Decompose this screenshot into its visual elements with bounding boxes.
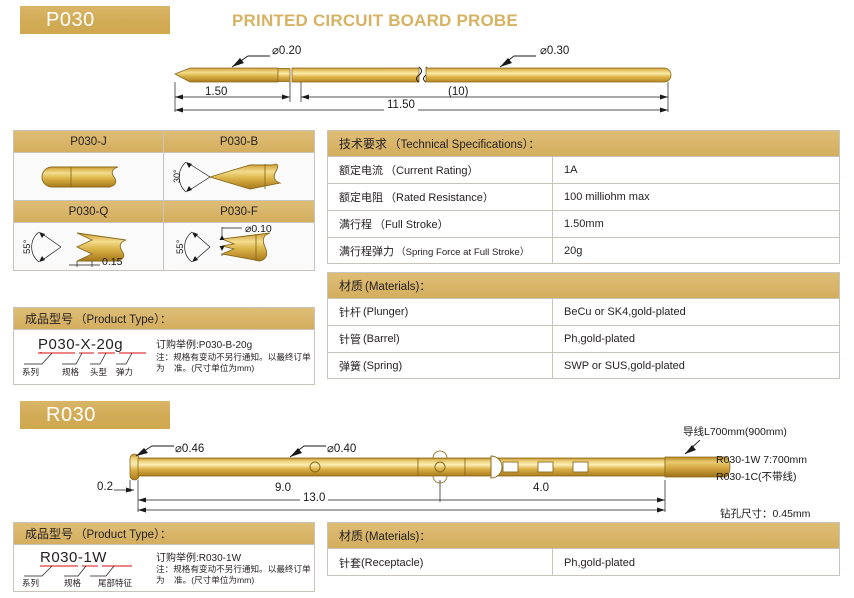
r030-materials-table: 材质 (Materials)： 针套 (Receptacle) Ph,gold-…	[327, 522, 840, 576]
p030-legend-1: 规格	[62, 366, 79, 378]
r030-len-tail-label: 4.0	[530, 482, 552, 494]
r030-note-line2: 准。(尺寸单位为mm)	[174, 575, 254, 586]
p030-product-type-box: 成品型号 （Product Type）： P030-X-20g 系列 规格 头型…	[13, 307, 315, 385]
p030-probe-drawing	[170, 44, 690, 114]
p030-legend-3: 弹力	[116, 366, 133, 378]
tip-type-cell-p030-q: 55° 0.15	[14, 223, 164, 270]
spec-label-cell: 满行程弹力 （Spring Force at Full Stroke）	[328, 238, 553, 264]
product-type-header-cn: 成品型号	[25, 310, 73, 327]
p030-legend-0: 系列	[22, 366, 39, 378]
p030-tip-type-grid: P030-J P030-B 30°	[13, 130, 315, 271]
material-value-cell: Ph,gold-plated	[553, 326, 839, 352]
p030-product-type-header: 成品型号 （Product Type）：	[14, 308, 314, 330]
p030-materials-table: 材质 (Materials)： 针杆 (Plunger) BeCu or SK4…	[327, 272, 840, 379]
material-value-cell: BeCu or SK4,gold-plated	[553, 299, 839, 325]
material-label-cell: 针杆 (Plunger)	[328, 299, 553, 325]
r030-len-total-label: 13.0	[300, 492, 328, 504]
r030-order-example: 订购举例:R030-1W	[156, 549, 241, 564]
material-label-en: (Barrel)	[363, 333, 400, 345]
p030-product-code: P030-X-20g	[38, 336, 123, 353]
specs-header-en: （Technical Specifications）：	[389, 136, 540, 152]
table-row: 满行程弹力 （Spring Force at Full Stroke） 20g	[328, 238, 839, 264]
p030-note-line2: 准。(尺寸单位为mm)	[174, 363, 254, 374]
material-label-cn: 针杆	[339, 304, 361, 320]
spec-value-cell: 1A	[553, 157, 839, 183]
r030-dia-head-label: ⌀0.46	[175, 441, 204, 455]
table-row: 弹簧 (Spring) SWP or SUS,gold-plated	[328, 353, 839, 379]
material-label-cn: 针管	[339, 331, 361, 347]
material-label-cell: 针套 (Receptacle)	[328, 549, 553, 576]
spec-label-en: （Current Rating）	[385, 162, 479, 178]
material-label-cn: 针套	[339, 555, 361, 571]
spec-label-cell: 满行程 （Full Stroke）	[328, 211, 553, 237]
p030-len-barrel-label: (10)	[448, 86, 468, 98]
tip-shape-cone-icon: 30°	[164, 153, 314, 201]
r030-legend-0: 系列	[22, 577, 39, 589]
tip-type-label: P030-J	[70, 136, 106, 148]
specs-header: 技术要求 （Technical Specifications）：	[328, 131, 839, 157]
r030-variant-1c: R030-1C(不带线)	[716, 469, 797, 484]
tip-shape-crown-flat-icon: 55°	[164, 223, 314, 270]
spec-label-cell: 额定电流 （Current Rating）	[328, 157, 553, 183]
r030-legend-1: 规格	[64, 577, 81, 589]
tip-type-cell-p030-f: 55° ⌀0.10	[164, 223, 314, 270]
tip-type-header-p030-j: P030-J	[14, 131, 164, 153]
tip-shape-crown-3point-icon: 55°	[14, 223, 164, 270]
p030-legend-2: 头型	[90, 366, 107, 378]
table-row: 针管 (Barrel) Ph,gold-plated	[328, 326, 839, 353]
tip-dim-label-f: ⌀0.10	[245, 223, 272, 235]
material-label-en: (Receptacle)	[361, 557, 423, 569]
materials-header: 材质 (Materials)：	[328, 273, 839, 299]
materials-header-cn: 材质	[339, 277, 363, 294]
p030-len-tip-label: 1.50	[205, 86, 227, 98]
tip-type-header-p030-b: P030-B	[164, 131, 314, 153]
tip-angle-label-b: 30°	[172, 169, 182, 183]
spec-label-cn: 额定电阻	[339, 189, 383, 205]
materials-header-cn: 材质	[339, 527, 363, 544]
materials-header-en: (Materials)：	[365, 278, 431, 294]
tip-dim-label-q: 0.15	[102, 256, 122, 268]
spec-label-cell: 额定电阻 （Rated Resistance）	[328, 184, 553, 210]
r030-legend-2: 尾部特征	[98, 577, 132, 589]
tip-type-label: P030-B	[220, 136, 258, 148]
spec-label-en: （Spring Force at Full Stroke）	[396, 244, 529, 258]
r030-len-mid-label: 9.0	[272, 482, 294, 494]
spec-label-en: （Full Stroke）	[374, 216, 449, 232]
tip-angle-label-q: 55°	[22, 239, 33, 254]
table-row: 额定电阻 （Rated Resistance） 100 milliohm max	[328, 184, 839, 211]
r030-variant-1w: R030-1W 7:700mm	[716, 454, 807, 466]
r030-materials-header: 材质 (Materials)：	[328, 523, 839, 549]
tip-type-cell-p030-b: 30°	[164, 153, 314, 201]
material-label-cell: 弹簧 (Spring)	[328, 353, 553, 379]
r030-len-head-label: 0.2	[97, 481, 113, 493]
r030-dia-body-label: ⌀0.40	[327, 441, 356, 455]
p030-specs-table: 技术要求 （Technical Specifications）： 额定电流 （C…	[327, 130, 840, 264]
p030-code-legend-lines	[20, 352, 155, 372]
specs-header-cn: 技术要求	[339, 135, 387, 152]
material-label-en: (Plunger)	[363, 306, 408, 318]
material-label-en: (Spring)	[363, 360, 402, 372]
table-row: 额定电流 （Current Rating） 1A	[328, 157, 839, 184]
p030-len-total-label: 11.50	[384, 99, 418, 111]
r030-product-type-box: 成品型号 （Product Type）： R030-1W 系列 规格 尾部特征 …	[13, 522, 315, 592]
tip-type-label: P030-F	[220, 206, 258, 218]
p030-dia-tip-label: ⌀0.20	[272, 43, 301, 57]
r030-product-code: R030-1W	[40, 549, 107, 566]
datasheet-page: P030 PRINTED CIRCUIT BOARD PROBE	[0, 0, 854, 598]
material-value-cell: Ph,gold-plated	[553, 549, 839, 576]
spec-label-cn: 额定电流	[339, 162, 383, 178]
p030-section-banner: P030	[20, 6, 170, 34]
spec-value-cell: 20g	[553, 238, 839, 264]
tip-type-cell-p030-j	[14, 153, 164, 201]
r030-section-banner: R030	[20, 401, 170, 429]
r030-drill-size: 钻孔尺寸：0.45mm	[720, 506, 810, 521]
p030-banner-label: P030	[20, 9, 95, 32]
table-row: 针杆 (Plunger) BeCu or SK4,gold-plated	[328, 299, 839, 326]
spec-value-cell: 1.50mm	[553, 211, 839, 237]
product-type-header-cn: 成品型号	[25, 525, 73, 542]
p030-dia-barrel-label: ⌀0.30	[540, 43, 569, 57]
material-label-cell: 针管 (Barrel)	[328, 326, 553, 352]
r030-banner-label: R030	[20, 404, 96, 427]
page-title: PRINTED CIRCUIT BOARD PROBE	[232, 11, 518, 31]
materials-header-en: (Materials)：	[365, 528, 431, 544]
spec-label-en: （Rated Resistance）	[385, 189, 494, 205]
tip-type-header-p030-f: P030-F	[164, 201, 314, 223]
tip-type-label: P030-Q	[69, 206, 109, 218]
tip-shape-flat-icon	[14, 153, 164, 201]
table-row: 满行程 （Full Stroke） 1.50mm	[328, 211, 839, 238]
r030-wire-label: 导线L700mm(900mm)	[683, 424, 787, 439]
spec-label-cn: 满行程弹力	[339, 243, 394, 259]
tip-angle-label-f: 55°	[175, 239, 186, 254]
material-value-cell: SWP or SUS,gold-plated	[553, 353, 839, 379]
product-type-header-en: （Product Type）：	[75, 526, 171, 542]
r030-code-legend-lines	[20, 565, 155, 583]
material-label-cn: 弹簧	[339, 358, 361, 374]
spec-label-cn: 满行程	[339, 216, 372, 232]
table-row: 针套 (Receptacle) Ph,gold-plated	[328, 549, 839, 576]
r030-product-type-header: 成品型号 （Product Type）：	[14, 523, 314, 545]
product-type-header-en: （Product Type）：	[75, 311, 171, 327]
p030-order-example: 订购举例:P030-B-20g	[156, 336, 252, 351]
tip-type-header-p030-q: P030-Q	[14, 201, 164, 223]
spec-value-cell: 100 milliohm max	[553, 184, 839, 210]
